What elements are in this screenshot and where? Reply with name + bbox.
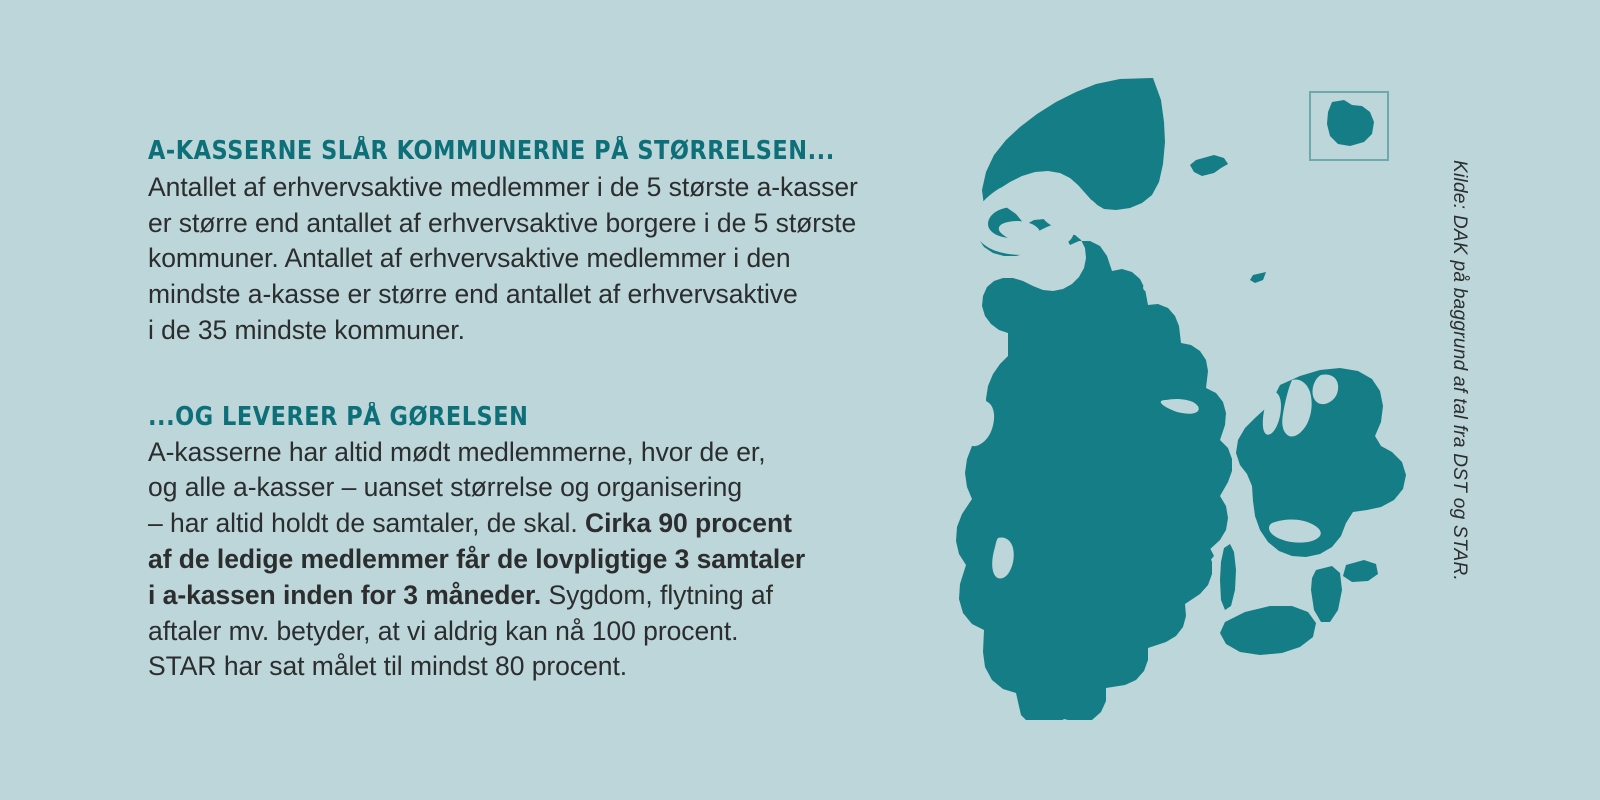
moen-island bbox=[1343, 560, 1378, 582]
text-block-a-kasserne-slaar: A-KASSERNE SLÅR KOMMUNERNE PÅ STØRRELSEN… bbox=[148, 138, 908, 349]
block-two-line-3-plain: – har altid holdt de samtaler, de skal. bbox=[148, 508, 585, 538]
block-two-line-2: og alle a-kasser – uanset størrelse og o… bbox=[148, 472, 742, 502]
block-two-line-5-bold: i a-kassen inden for 3 måneder. bbox=[148, 580, 541, 610]
lolland-island bbox=[1220, 606, 1316, 655]
block-one-heading: A-KASSERNE SLÅR KOMMUNERNE PÅ STØRRELSEN… bbox=[148, 138, 817, 165]
mariager-fjord bbox=[1143, 284, 1184, 299]
block-one-line-4: mindste a-kasse er større end antallet a… bbox=[148, 279, 798, 309]
block-one-line-5: i de 35 mindste kommuner. bbox=[148, 315, 465, 345]
langeland-island bbox=[1220, 544, 1236, 610]
anholt-island bbox=[1250, 272, 1266, 283]
jutland-mainland bbox=[956, 78, 1232, 720]
block-two-line-5-plain: Sygdom, flytning af bbox=[541, 580, 773, 610]
text-column: A-KASSERNE SLÅR KOMMUNERNE PÅ STØRRELSEN… bbox=[148, 138, 908, 685]
block-two-body: A-kasserne har altid mødt medlemmerne, h… bbox=[148, 435, 908, 686]
block-two-line-7: STAR har sat målet til mindst 80 procent… bbox=[148, 651, 627, 681]
bornholm-island bbox=[1327, 100, 1374, 146]
text-block-og-leverer: ...OG LEVERER PÅ GØRELSEN A-kasserne har… bbox=[148, 404, 908, 685]
laesoe-island bbox=[1190, 155, 1228, 176]
denmark-map bbox=[880, 70, 1480, 720]
block-one-body: Antallet af erhvervsaktive medlemmer i d… bbox=[148, 170, 908, 349]
block-one-line-1: Antallet af erhvervsaktive medlemmer i d… bbox=[148, 172, 858, 202]
block-one-line-3: kommuner. Antallet af erhvervsaktive med… bbox=[148, 243, 791, 273]
denmark-shapes bbox=[956, 78, 1406, 720]
block-two-line-1: A-kasserne har altid mødt medlemmerne, h… bbox=[148, 437, 766, 467]
denmark-map-svg bbox=[880, 70, 1480, 720]
taasinge-island bbox=[1198, 548, 1214, 563]
block-two-heading: ...OG LEVERER PÅ GØRELSEN bbox=[148, 404, 817, 431]
falster-island bbox=[1311, 566, 1342, 622]
infographic-root: A-KASSERNE SLÅR KOMMUNERNE PÅ STØRRELSEN… bbox=[0, 0, 1600, 800]
block-two-line-3-bold: Cirka 90 procent bbox=[585, 508, 792, 538]
block-two-line-6: aftaler mv. betyder, at vi aldrig kan nå… bbox=[148, 616, 739, 646]
block-two-line-4-bold: af de ledige medlemmer får de lovpligtig… bbox=[148, 544, 805, 574]
source-credit: Kilde: DAK på baggrund af tal fra DST og… bbox=[1448, 160, 1470, 580]
map-land-group bbox=[956, 78, 1406, 720]
block-one-line-2: er større end antallet af erhvervsaktive… bbox=[148, 208, 856, 238]
